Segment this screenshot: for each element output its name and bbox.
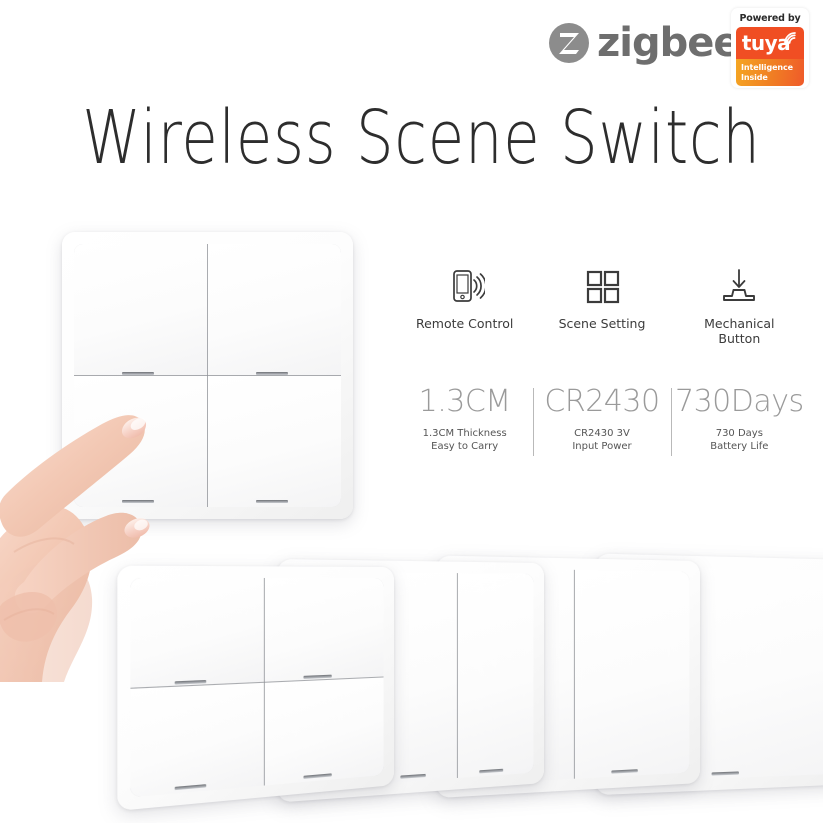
tuya-tagline-block: Intelligence Inside bbox=[736, 59, 804, 86]
switch-face bbox=[74, 244, 341, 507]
switch-key-right[interactable] bbox=[457, 573, 533, 778]
press-button-arrow-icon bbox=[671, 264, 808, 308]
switch-indicator-slot bbox=[122, 500, 154, 503]
spec-description: 730 Days Battery Life bbox=[671, 427, 808, 453]
spec-description: CR2430 3V Input Power bbox=[533, 427, 670, 453]
switch-key-bottom-left[interactable] bbox=[130, 682, 263, 798]
smartphone-signal-icon bbox=[396, 264, 533, 308]
spec-value: 730Days bbox=[671, 386, 808, 418]
spec-desc-line1: 1.3CM Thickness bbox=[396, 427, 533, 440]
spec-battery-life: 730Days 730 Days Battery Life bbox=[671, 386, 808, 453]
switch-key-bottom-right[interactable] bbox=[208, 376, 342, 508]
switch-key-top-right[interactable] bbox=[208, 244, 342, 376]
switch-indicator-slot bbox=[256, 500, 288, 503]
switch-seam-horizontal bbox=[74, 375, 341, 376]
switch-seam-vertical bbox=[574, 570, 575, 779]
switch-key-right[interactable] bbox=[574, 570, 689, 779]
spec-description: 1.3CM Thickness Easy to Carry bbox=[396, 427, 533, 453]
feature-label-line2: Button bbox=[671, 331, 808, 346]
spec-desc-line2: Battery Life bbox=[671, 440, 808, 453]
spec-desc-line2: Easy to Carry bbox=[396, 440, 533, 453]
tuya-brand-block: tuya bbox=[736, 27, 804, 59]
feature-highlights: Remote Control Scene Setting bbox=[396, 264, 808, 346]
feature-label: Remote Control bbox=[396, 316, 533, 331]
tuya-tagline-line1: Intelligence bbox=[741, 63, 804, 73]
spec-battery-model: CR2430 CR2430 3V Input Power bbox=[533, 386, 670, 453]
spec-value: CR2430 bbox=[533, 386, 670, 418]
switch-indicator-slot bbox=[122, 372, 154, 375]
spec-desc-line1: 730 Days bbox=[671, 427, 808, 440]
switch-key-bottom-left[interactable] bbox=[74, 376, 208, 508]
feature-label-line1: Mechanical bbox=[671, 316, 808, 331]
switch-key-top-left[interactable] bbox=[130, 578, 263, 688]
spec-thickness: 1.3CM 1.3CM Thickness Easy to Carry bbox=[396, 386, 533, 453]
feature-mechanical-button: Mechanical Button bbox=[671, 264, 808, 346]
tuya-tagline-line2: Inside bbox=[741, 73, 804, 83]
switch-key-bottom-right[interactable] bbox=[264, 676, 384, 785]
zigbee-wordmark: zigbee bbox=[597, 23, 740, 63]
switch-key-top-left[interactable] bbox=[74, 244, 208, 376]
brand-logo-bar: zigbee Powered by tuya Intelligence Insi… bbox=[540, 8, 815, 88]
tuya-powered-by-label: Powered by bbox=[731, 13, 809, 24]
tuya-powered-badge: Powered by tuya Intelligence Inside bbox=[731, 8, 809, 88]
page-title: Wireless Scene Switch bbox=[82, 101, 740, 175]
switch-key-top-right[interactable] bbox=[264, 578, 384, 682]
tuya-wifi-arc-icon bbox=[784, 32, 797, 45]
switch-seam-vertical bbox=[457, 573, 458, 778]
spec-value: 1.3CM bbox=[396, 386, 533, 418]
product-marketing-image: zigbee Powered by tuya Intelligence Insi… bbox=[0, 0, 823, 823]
switch-indicator-slot bbox=[256, 372, 288, 375]
feature-remote-control: Remote Control bbox=[396, 264, 533, 346]
switch-variant-4gang[interactable] bbox=[117, 566, 394, 811]
switch-face bbox=[130, 578, 383, 797]
zigbee-logo: zigbee bbox=[548, 22, 740, 64]
hero-switch-4gang[interactable] bbox=[62, 232, 353, 519]
spec-highlights: 1.3CM 1.3CM Thickness Easy to Carry CR24… bbox=[396, 386, 808, 453]
feature-label: Mechanical Button bbox=[671, 316, 808, 346]
spec-desc-line1: CR2430 3V bbox=[533, 427, 670, 440]
zigbee-circle-z-icon bbox=[548, 22, 590, 64]
spec-desc-line2: Input Power bbox=[533, 440, 670, 453]
feature-scene-setting: Scene Setting bbox=[533, 264, 670, 346]
four-squares-grid-icon bbox=[533, 264, 670, 308]
feature-label: Scene Setting bbox=[533, 316, 670, 331]
